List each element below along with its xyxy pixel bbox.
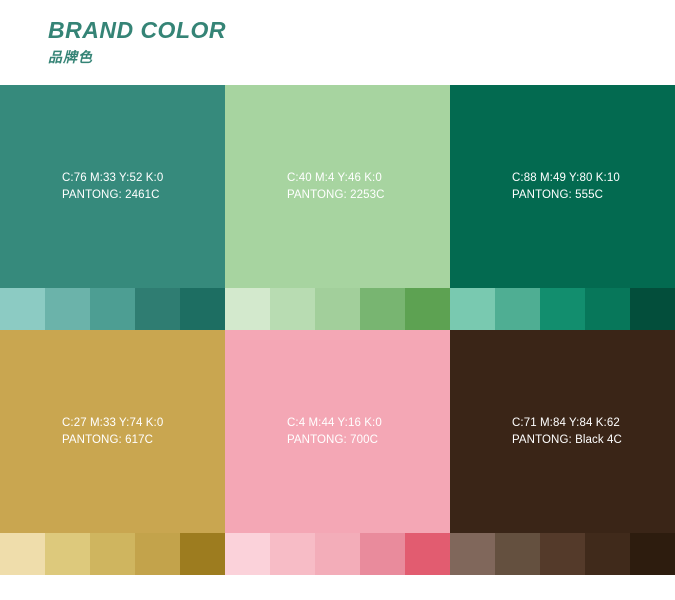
tint-group-teal [0,288,225,330]
swatch-label: C:40 M:4 Y:46 K:0 PANTONG: 2253C [287,170,384,204]
tint-cell-5[interactable] [180,288,225,330]
tint-cell-4[interactable] [135,288,180,330]
page-header: BRAND COLOR 品牌色 [0,0,675,85]
swatch-label: C:71 M:84 Y:84 K:62 PANTONG: Black 4C [512,415,622,449]
tint-cell-2[interactable] [270,288,315,330]
color-swatch-pink[interactable]: C:4 M:44 Y:16 K:0 PANTONG: 700C [225,330,450,533]
color-swatch-light-green[interactable]: C:40 M:4 Y:46 K:0 PANTONG: 2253C [225,85,450,288]
swatch-cmyk: C:71 M:84 Y:84 K:62 [512,415,622,432]
tint-group-dark-brown [450,533,675,575]
tint-cell-2[interactable] [45,288,90,330]
tint-cell-2[interactable] [45,533,90,575]
swatch-cmyk: C:76 M:33 Y:52 K:0 [62,170,163,187]
swatch-pantone: PANTONG: 700C [287,432,382,449]
tint-group-gold [0,533,225,575]
tint-group-light-green [225,288,450,330]
tint-cell-5[interactable] [630,533,675,575]
tint-cell-4[interactable] [585,288,630,330]
tint-cell-1[interactable] [225,533,270,575]
tint-cell-1[interactable] [450,533,495,575]
page-subtitle: 品牌色 [48,47,675,67]
tint-cell-1[interactable] [0,533,45,575]
swatch-pantone: PANTONG: Black 4C [512,432,622,449]
color-palette: C:76 M:33 Y:52 K:0 PANTONG: 2461C C:40 M… [0,85,675,575]
swatch-pantone: PANTONG: 2253C [287,187,384,204]
tint-group-pink [225,533,450,575]
tint-cell-5[interactable] [405,533,450,575]
tint-cell-4[interactable] [360,533,405,575]
tint-cell-3[interactable] [90,533,135,575]
page-title: BRAND COLOR [48,16,675,44]
tint-cell-3[interactable] [90,288,135,330]
tint-row-2 [0,533,675,575]
color-swatch-dark-brown[interactable]: C:71 M:84 Y:84 K:62 PANTONG: Black 4C [450,330,675,533]
tint-cell-1[interactable] [450,288,495,330]
tint-cell-2[interactable] [495,288,540,330]
swatch-pantone: PANTONG: 617C [62,432,163,449]
tint-cell-5[interactable] [405,288,450,330]
swatch-row-1: C:76 M:33 Y:52 K:0 PANTONG: 2461C C:40 M… [0,85,675,288]
tint-cell-5[interactable] [180,533,225,575]
tint-cell-1[interactable] [0,288,45,330]
tint-cell-4[interactable] [360,288,405,330]
tint-cell-3[interactable] [540,533,585,575]
brand-color-page: BRAND COLOR 品牌色 C:76 M:33 Y:52 K:0 PANTO… [0,0,675,600]
swatch-pantone: PANTONG: 555C [512,187,620,204]
swatch-label: C:88 M:49 Y:80 K:10 PANTONG: 555C [512,170,620,204]
tint-cell-2[interactable] [270,533,315,575]
swatch-cmyk: C:40 M:4 Y:46 K:0 [287,170,384,187]
tint-cell-3[interactable] [315,533,360,575]
color-swatch-dark-emerald[interactable]: C:88 M:49 Y:80 K:10 PANTONG: 555C [450,85,675,288]
swatch-cmyk: C:88 M:49 Y:80 K:10 [512,170,620,187]
swatch-label: C:4 M:44 Y:16 K:0 PANTONG: 700C [287,415,382,449]
tint-group-dark-emerald [450,288,675,330]
tint-cell-5[interactable] [630,288,675,330]
tint-cell-4[interactable] [135,533,180,575]
footer-whitespace [0,575,675,600]
palette-row-2: C:27 M:33 Y:74 K:0 PANTONG: 617C C:4 M:4… [0,330,675,575]
tint-cell-2[interactable] [495,533,540,575]
swatch-pantone: PANTONG: 2461C [62,187,163,204]
swatch-cmyk: C:27 M:33 Y:74 K:0 [62,415,163,432]
tint-cell-3[interactable] [540,288,585,330]
swatch-cmyk: C:4 M:44 Y:16 K:0 [287,415,382,432]
swatch-row-2: C:27 M:33 Y:74 K:0 PANTONG: 617C C:4 M:4… [0,330,675,533]
color-swatch-gold[interactable]: C:27 M:33 Y:74 K:0 PANTONG: 617C [0,330,225,533]
tint-cell-4[interactable] [585,533,630,575]
palette-row-1: C:76 M:33 Y:52 K:0 PANTONG: 2461C C:40 M… [0,85,675,330]
tint-cell-1[interactable] [225,288,270,330]
swatch-label: C:76 M:33 Y:52 K:0 PANTONG: 2461C [62,170,163,204]
swatch-label: C:27 M:33 Y:74 K:0 PANTONG: 617C [62,415,163,449]
tint-row-1 [0,288,675,330]
tint-cell-3[interactable] [315,288,360,330]
color-swatch-teal[interactable]: C:76 M:33 Y:52 K:0 PANTONG: 2461C [0,85,225,288]
